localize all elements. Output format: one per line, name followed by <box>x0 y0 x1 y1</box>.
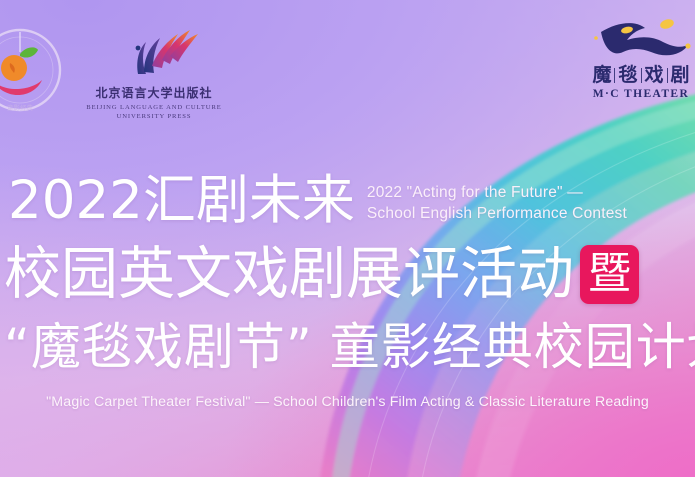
headline-line-1-english-block: 2022 "Acting for the Future" — School En… <box>367 182 627 224</box>
headline-english-b: School English Performance Contest <box>367 203 627 224</box>
headline-block: 2022汇剧未来 2022 "Acting for the Future" — … <box>0 0 695 477</box>
ji-badge: 暨 <box>580 245 639 304</box>
headline-line-1: 2022汇剧未来 2022 "Acting for the Future" — … <box>8 173 627 229</box>
headline-line-1-chinese: 2022汇剧未来 <box>8 173 355 229</box>
headline-english-a: 2022 "Acting for the Future" — <box>367 182 627 203</box>
event-poster-banner: 童影经典 <box>0 0 695 477</box>
headline-line-3: “魔毯戏剧节” 童影经典校园计划 <box>4 318 695 376</box>
headline-line-2-chinese: 校园英文戏剧展评活动 <box>4 243 574 305</box>
headline-line-4: "Magic Carpet Theater Festival" — School… <box>0 394 695 410</box>
headline-line-2: 校园英文戏剧展评活动 暨 <box>4 243 639 305</box>
ji-badge-label: 暨 <box>588 253 631 296</box>
headline-line-4-english: "Magic Carpet Theater Festival" — School… <box>0 394 695 410</box>
headline-line-3-chinese: “魔毯戏剧节” 童影经典校园计划 <box>4 318 695 376</box>
